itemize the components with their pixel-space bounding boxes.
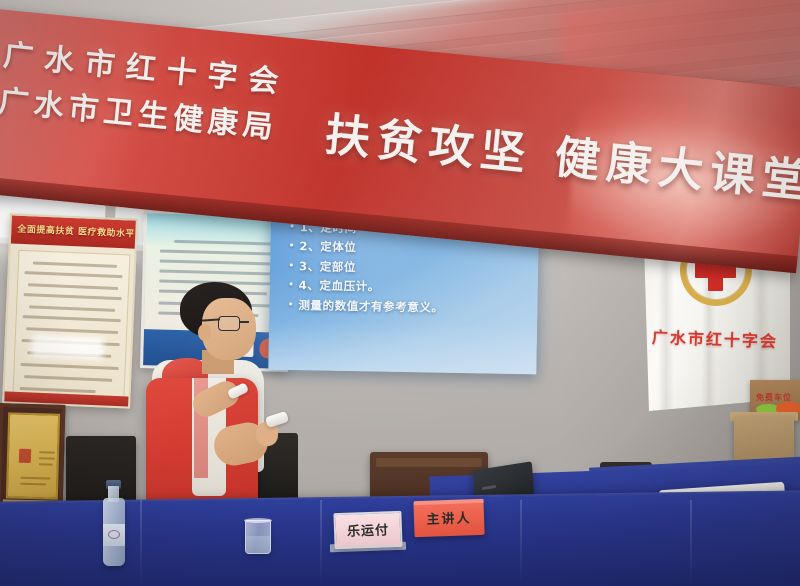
name-card-pink-text: 乐运付 (336, 519, 401, 540)
tablecloth-fold-3 (520, 500, 522, 586)
slide-bullet-text: 测量的数值才有参考意义。 (298, 298, 443, 315)
tablecloth-fold-1 (140, 500, 142, 586)
glass-water (246, 536, 270, 553)
flag-organization-text: 广水市红十字会 (652, 324, 785, 353)
slide-bullet: • 3、定部位 (288, 258, 536, 276)
slide-bullet-text: 4、定血压计。 (299, 278, 380, 293)
wall-poster-left: 全面提高扶贫 医疗救助水平 (2, 213, 138, 408)
slide-bullet: • 测量的数值才有参考意义。 (287, 297, 535, 315)
poster-left-body (12, 250, 130, 405)
bullet-dot-icon: • (287, 297, 298, 311)
slide-bullet: • 4、定血压计。 (288, 278, 536, 296)
slide-bullet-text: 2、定体位 (299, 239, 356, 254)
tablecloth-fold-4 (690, 500, 692, 586)
bottle-label-mark (108, 530, 120, 539)
certificate-face (6, 412, 60, 499)
name-card-red-text: 主讲人 (416, 507, 483, 528)
eyeglasses-icon (218, 316, 240, 331)
tablecloth-fold-2 (320, 500, 322, 586)
screen-lower-wash (268, 320, 537, 375)
wooden-chair-rail (376, 458, 482, 467)
bullet-dot-icon: • (288, 239, 299, 253)
presenter-ear (198, 324, 211, 341)
bullet-dot-icon: • (288, 278, 299, 292)
poster-left-glare (31, 334, 104, 359)
framed-certificate (0, 403, 65, 509)
eyeglasses-bridge (239, 321, 249, 323)
lecture-room-photo: 全面提高扶贫 医疗救助水平 (0, 0, 800, 586)
certificate-seal (19, 449, 31, 463)
bullet-dot-icon: • (288, 258, 299, 272)
slide-bullet-text: 3、定部位 (299, 259, 356, 274)
glass-rim (244, 518, 272, 523)
